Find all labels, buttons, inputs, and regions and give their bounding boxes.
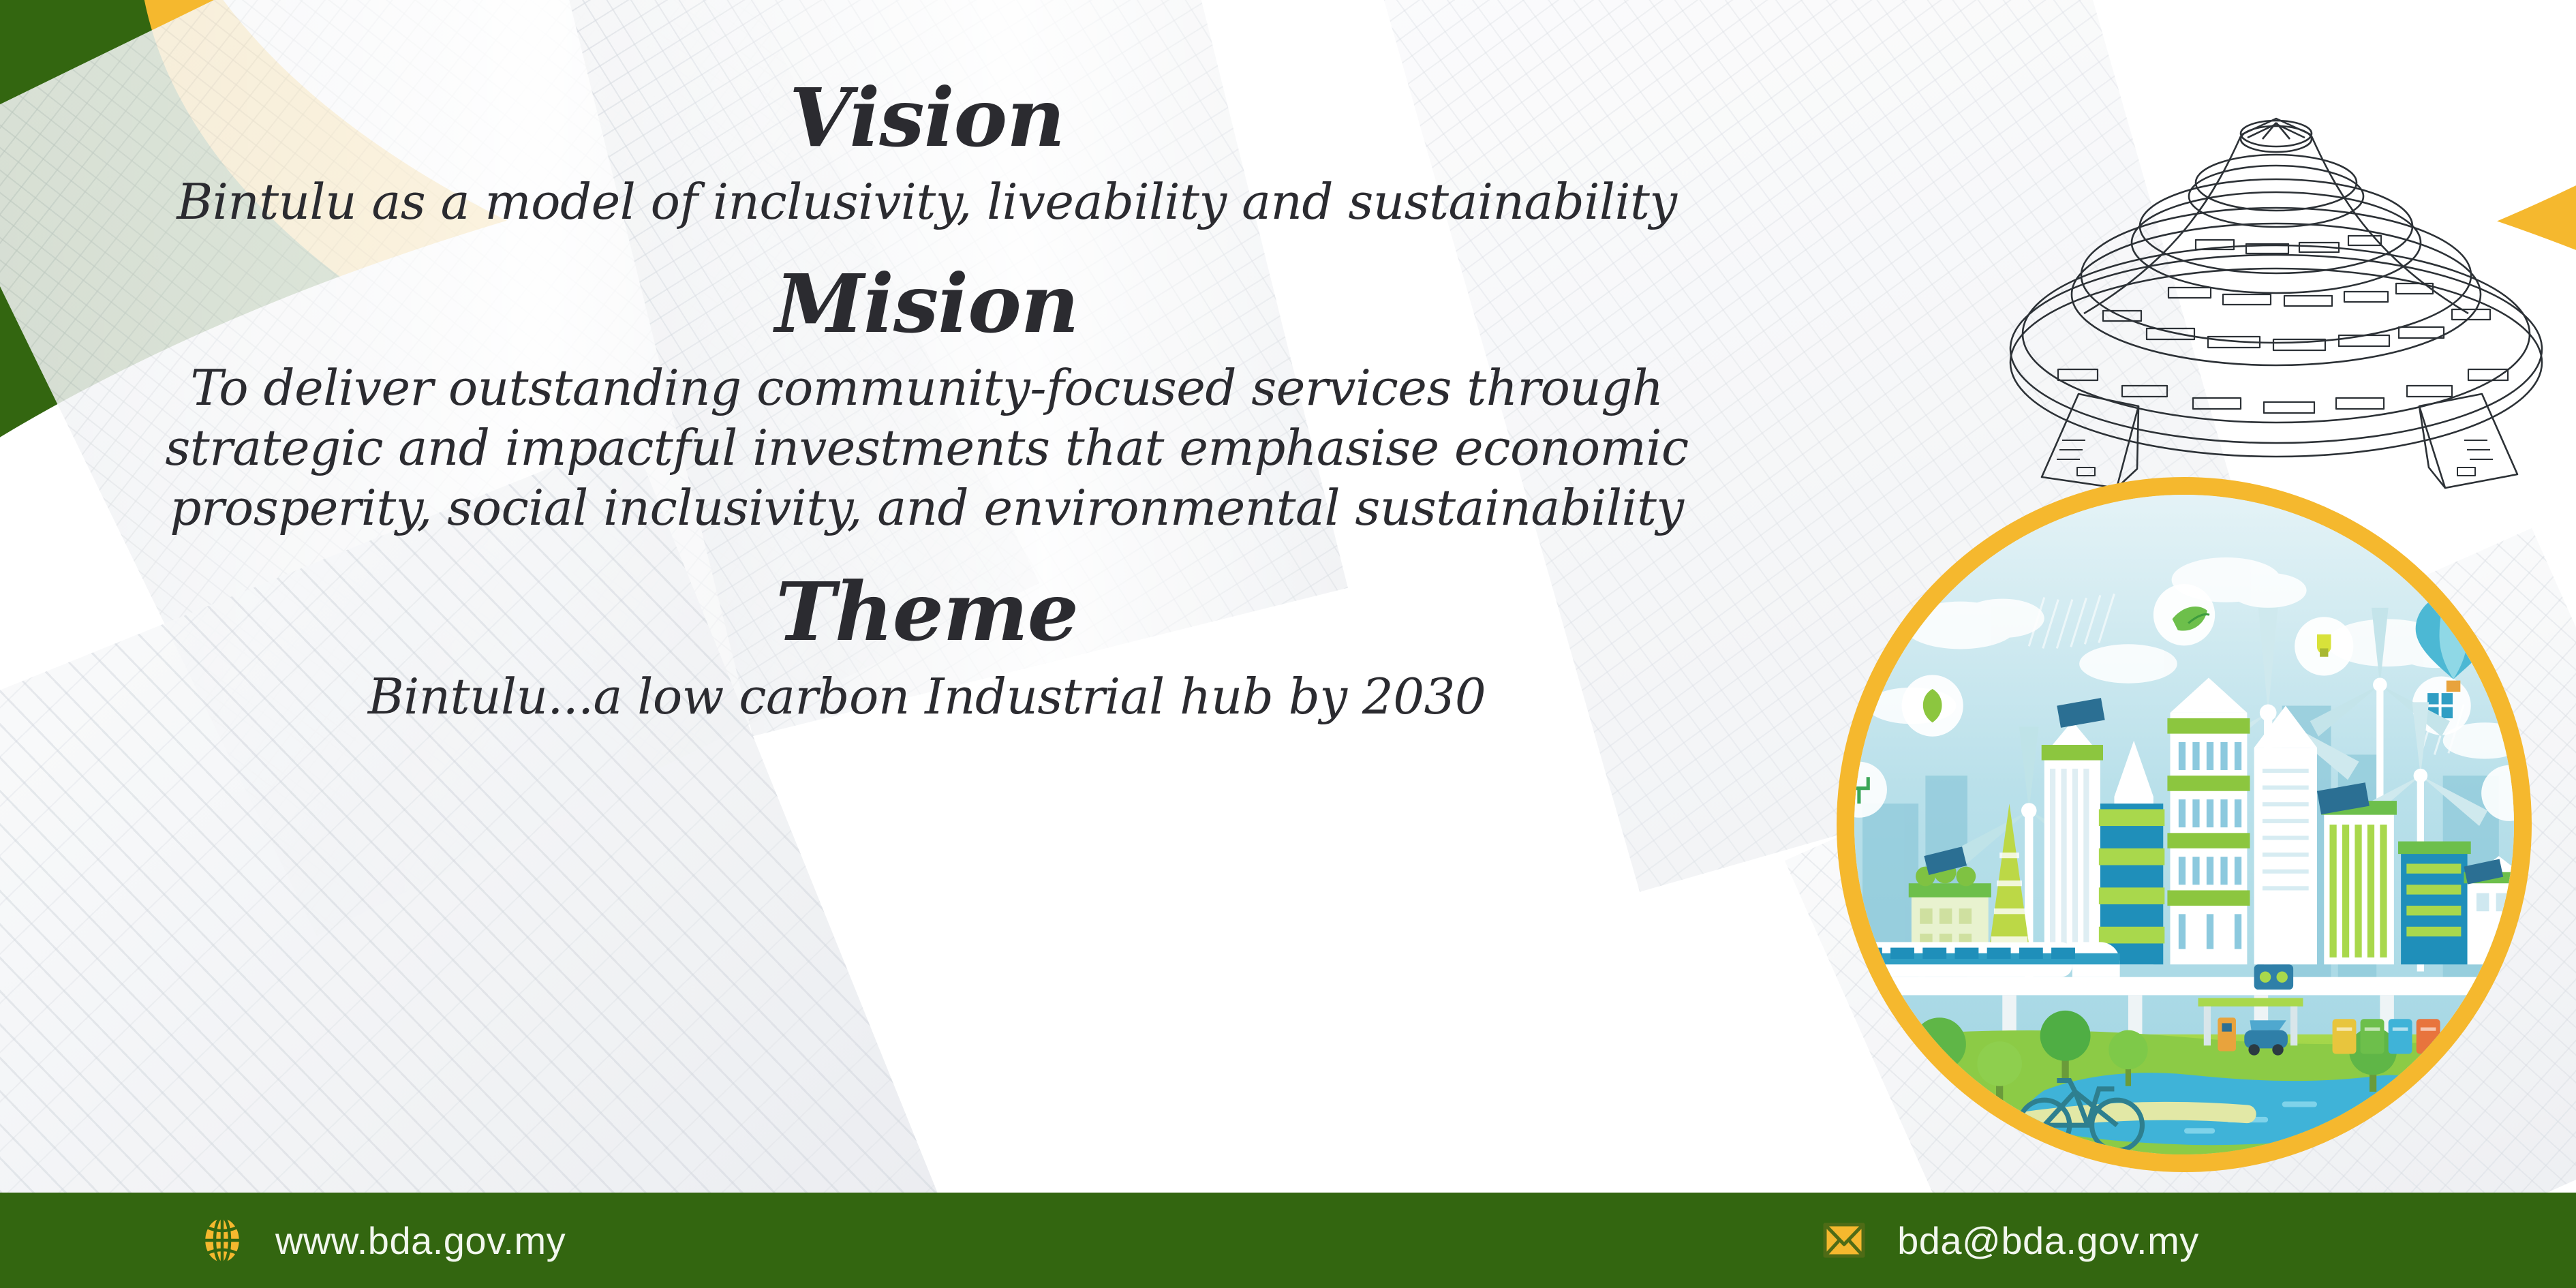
website-contact[interactable]: www.bda.gov.my: [198, 1216, 566, 1265]
text-content: Vision Bintulu as a model of inclusivity…: [0, 75, 1854, 726]
envelope-icon: [1820, 1216, 1869, 1265]
mision-line-2: strategic and impactful investments that…: [0, 418, 1854, 478]
globe-icon: [198, 1216, 247, 1265]
email-label: bda@bda.gov.my: [1897, 1218, 2199, 1263]
vision-line-1: Bintulu as a model of inclusivity, livea…: [0, 172, 1854, 232]
eco-city-illustration: [1854, 495, 2514, 1154]
mision-heading: Mision: [0, 261, 1854, 346]
vision-heading: Vision: [0, 75, 1854, 160]
email-contact[interactable]: bda@bda.gov.my: [1820, 1216, 2199, 1265]
mision-line-3: prosperity, social inclusivity, and envi…: [0, 478, 1854, 538]
poster: Vision Bintulu as a model of inclusivity…: [0, 0, 2576, 1288]
website-label: www.bda.gov.my: [275, 1218, 566, 1263]
theme-heading: Theme: [0, 569, 1854, 654]
mision-line-1: To deliver outstanding community-focused…: [0, 358, 1854, 418]
contact-footer: www.bda.gov.my bda@bda.gov.my: [0, 1193, 2576, 1288]
eco-city-circle: [1837, 477, 2532, 1172]
theme-line-1: Bintulu...a low carbon Industrial hub by…: [0, 667, 1854, 727]
